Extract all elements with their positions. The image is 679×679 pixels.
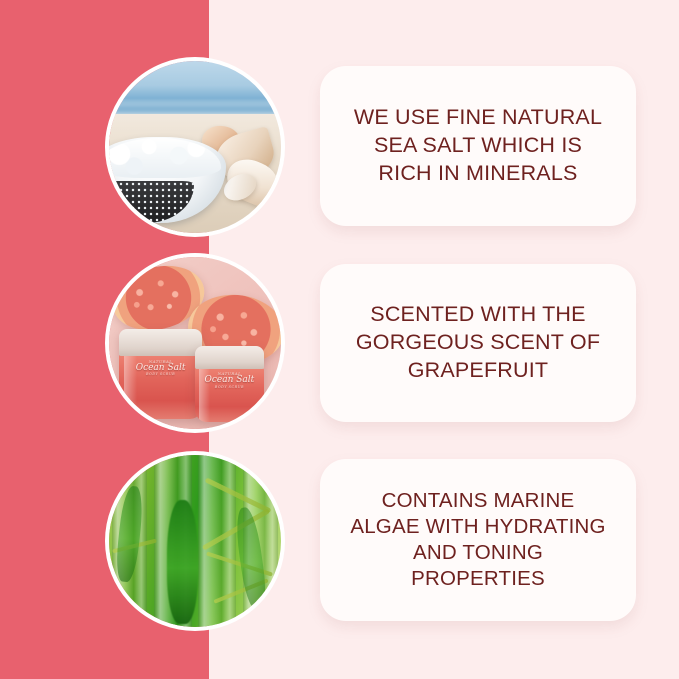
bowl-base bbox=[105, 181, 194, 222]
grapefruit-scene: NATURAL Ocean Salt BODY SCRUB NATURAL Oc… bbox=[109, 257, 281, 429]
feature-text-sea-salt: WE USE FINE NATURAL SEA SALT WHICH IS RI… bbox=[354, 104, 602, 188]
jar-product-subtitle: BODY SCRUB bbox=[195, 386, 264, 390]
feature-image-grapefruit: NATURAL Ocean Salt BODY SCRUB NATURAL Oc… bbox=[105, 253, 285, 433]
algae-frond bbox=[167, 500, 198, 624]
sea-salt-scene bbox=[109, 61, 281, 233]
scrub-jar-large: NATURAL Ocean Salt BODY SCRUB bbox=[119, 329, 202, 418]
jar-label: NATURAL Ocean Salt BODY SCRUB bbox=[195, 372, 264, 389]
marine-algae-scene bbox=[109, 455, 281, 627]
jar-product-subtitle: BODY SCRUB bbox=[119, 373, 202, 377]
jar-lid bbox=[195, 346, 264, 369]
feature-image-marine-algae bbox=[105, 451, 285, 631]
infographic-poster: WE USE FINE NATURAL SEA SALT WHICH IS RI… bbox=[0, 0, 679, 679]
salt-crystals bbox=[105, 138, 221, 178]
feature-image-sea-salt bbox=[105, 57, 285, 237]
jar-brand-text: NATURAL bbox=[195, 372, 264, 376]
jar-brand-text: NATURAL bbox=[119, 360, 202, 364]
feature-card-marine-algae: CONTAINS MARINE ALGAE WITH HYDRATING AND… bbox=[320, 459, 636, 621]
feature-card-sea-salt: WE USE FINE NATURAL SEA SALT WHICH IS RI… bbox=[320, 66, 636, 226]
feature-text-marine-algae: CONTAINS MARINE ALGAE WITH HYDRATING AND… bbox=[350, 488, 605, 591]
jar-label: NATURAL Ocean Salt BODY SCRUB bbox=[119, 360, 202, 377]
feature-card-grapefruit: SCENTED WITH THE GORGEOUS SCENT OF GRAPE… bbox=[320, 264, 636, 422]
ocean-horizon-layer bbox=[109, 106, 281, 115]
jar-lid bbox=[119, 329, 202, 356]
feature-text-grapefruit: SCENTED WITH THE GORGEOUS SCENT OF GRAPE… bbox=[356, 301, 600, 385]
scrub-jar-small: NATURAL Ocean Salt BODY SCRUB bbox=[195, 346, 264, 422]
